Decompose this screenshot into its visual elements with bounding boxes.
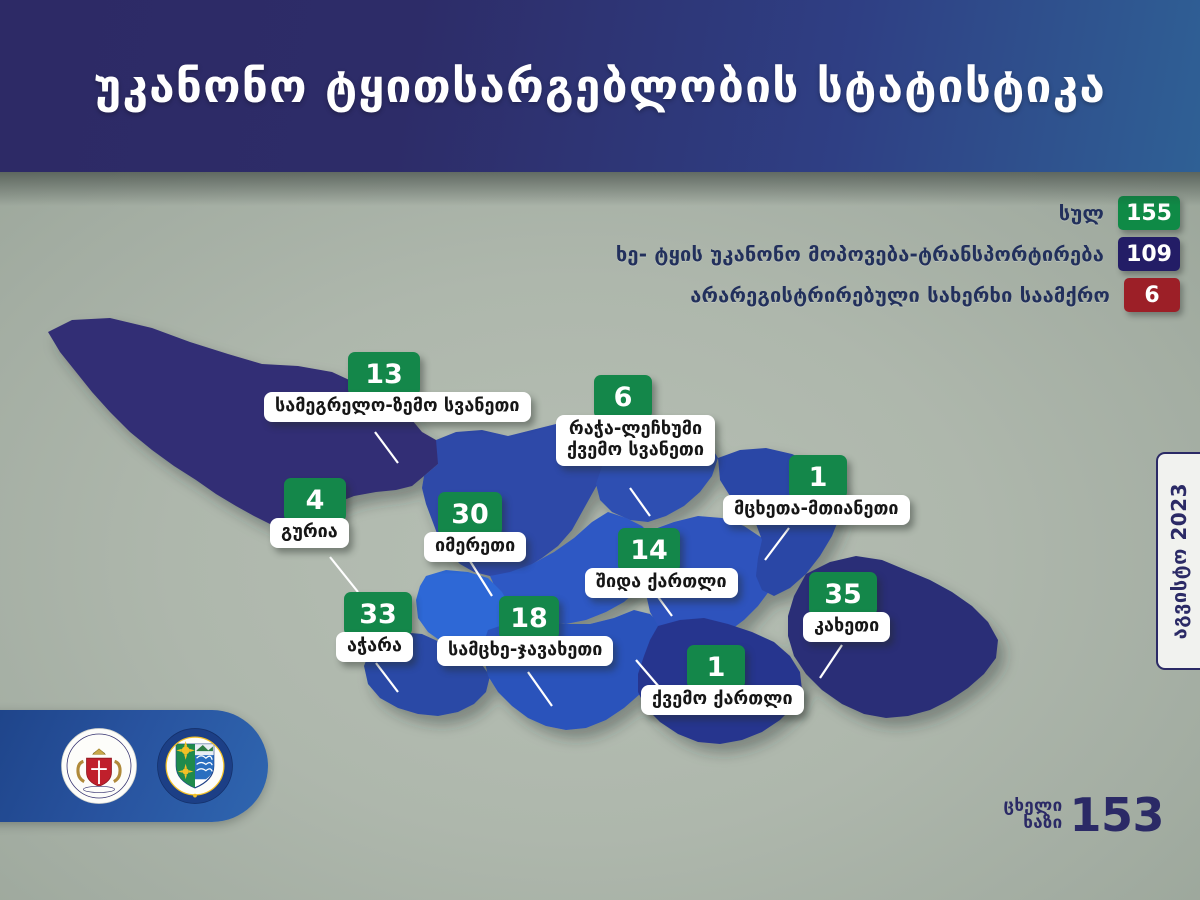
organization-logos	[0, 710, 268, 822]
name-chip-racha: რაჭა-ლეჩხუმი ქვემო სვანეთი	[556, 415, 715, 466]
count-chip-samtskhe: 18	[499, 596, 559, 640]
name-chip-racha-line1: რაჭა-ლეჩხუმი	[567, 419, 704, 440]
region-shape-abkhazia	[48, 318, 444, 528]
date-tab-label: აგვისტო 2023	[1167, 483, 1191, 639]
hotline-words: ცხელი ხაზი	[1003, 798, 1062, 832]
marker-racha-lechkhumi[interactable]: 6 რაჭა-ლეჩხუმი ქვემო სვანეთი	[556, 375, 715, 466]
count-chip-adjara: 33	[344, 592, 412, 636]
legend: სულ 155 ხე- ტყის უკანონო მოპოვება-ტრანსპ…	[616, 196, 1180, 312]
count-chip-guria: 4	[284, 478, 346, 522]
legend-badge-total: 155	[1118, 196, 1180, 230]
legend-label-total: სულ	[1059, 201, 1104, 225]
name-chip-mtskheta: მცხეთა-მთიანეთი	[723, 495, 910, 525]
marker-shida-kartli[interactable]: 14 შიდა ქართლი	[585, 528, 738, 598]
name-chip-kakheti: კახეთი	[803, 612, 890, 642]
name-chip-kvemo-kartli: ქვემო ქართლი	[641, 685, 804, 715]
marker-samtskhe-javakheti[interactable]: 18 სამცხე-ჯავახეთი	[437, 596, 613, 666]
legend-row-transport: ხე- ტყის უკანონო მოპოვება-ტრანსპორტირება…	[616, 237, 1180, 271]
marker-samegrelo-zemo-svaneti[interactable]: 13 სამეგრელო-ზემო სვანეთი	[264, 352, 531, 422]
name-chip-imereti: იმერეთი	[424, 532, 526, 562]
ministry-emblem-svg	[60, 727, 138, 805]
legend-row-unregistered-sawmill: არარეგისტრირებული სახერხი საამქრო 6	[616, 278, 1180, 312]
count-chip-imereti: 30	[438, 492, 502, 536]
environmental-agency-emblem-icon	[156, 727, 234, 805]
name-chip-racha-line2: ქვემო სვანეთი	[567, 440, 704, 461]
legend-label-transport: ხე- ტყის უკანონო მოპოვება-ტრანსპორტირება	[616, 242, 1104, 266]
marker-mtskheta-mtianeti[interactable]: 1 მცხეთა-მთიანეთი	[723, 455, 910, 525]
marker-imereti[interactable]: 30 იმერეთი	[424, 492, 526, 562]
count-chip-kvemo-kartli: 1	[687, 645, 745, 689]
count-chip-samegrelo: 13	[348, 352, 420, 396]
marker-guria[interactable]: 4 გურია	[270, 478, 349, 548]
agency-emblem-svg	[156, 727, 234, 805]
legend-badge-transport: 109	[1118, 237, 1180, 271]
infographic-canvas: უკანონო ტყითსარგებლობის სტატისტიკა სულ 1…	[0, 0, 1200, 900]
legend-label-unregistered-sawmill: არარეგისტრირებული სახერხი საამქრო	[690, 283, 1110, 307]
name-chip-guria: გურია	[270, 518, 349, 548]
legend-row-total: სულ 155	[616, 196, 1180, 230]
legend-badge-unregistered-sawmill: 6	[1124, 278, 1180, 312]
name-chip-adjara: აჭარა	[336, 632, 413, 662]
count-chip-mtskheta: 1	[789, 455, 847, 499]
count-chip-racha: 6	[594, 375, 652, 419]
header-banner: უკანონო ტყითსარგებლობის სტატისტიკა	[0, 0, 1200, 172]
marker-kvemo-kartli[interactable]: 1 ქვემო ქართლი	[641, 645, 804, 715]
hotline-word-line: ხაზი	[1003, 815, 1062, 832]
name-chip-samegrelo: სამეგრელო-ზემო სვანეთი	[264, 392, 531, 422]
count-chip-shida-kartli: 14	[618, 528, 680, 572]
page-title: უკანონო ტყითსარგებლობის სტატისტიკა	[94, 59, 1106, 113]
hotline-number: 153	[1069, 795, 1164, 836]
marker-kakheti[interactable]: 35 კახეთი	[803, 572, 890, 642]
name-chip-shida-kartli: შიდა ქართლი	[585, 568, 738, 598]
count-chip-kakheti: 35	[809, 572, 877, 616]
marker-adjara[interactable]: 33 აჭარა	[336, 592, 413, 662]
hotline-block: ცხელი ხაზი 153	[1003, 795, 1164, 836]
name-chip-samtskhe: სამცხე-ჯავახეთი	[437, 636, 613, 666]
ministry-emblem-icon	[60, 727, 138, 805]
date-tab: აგვისტო 2023	[1156, 452, 1200, 670]
